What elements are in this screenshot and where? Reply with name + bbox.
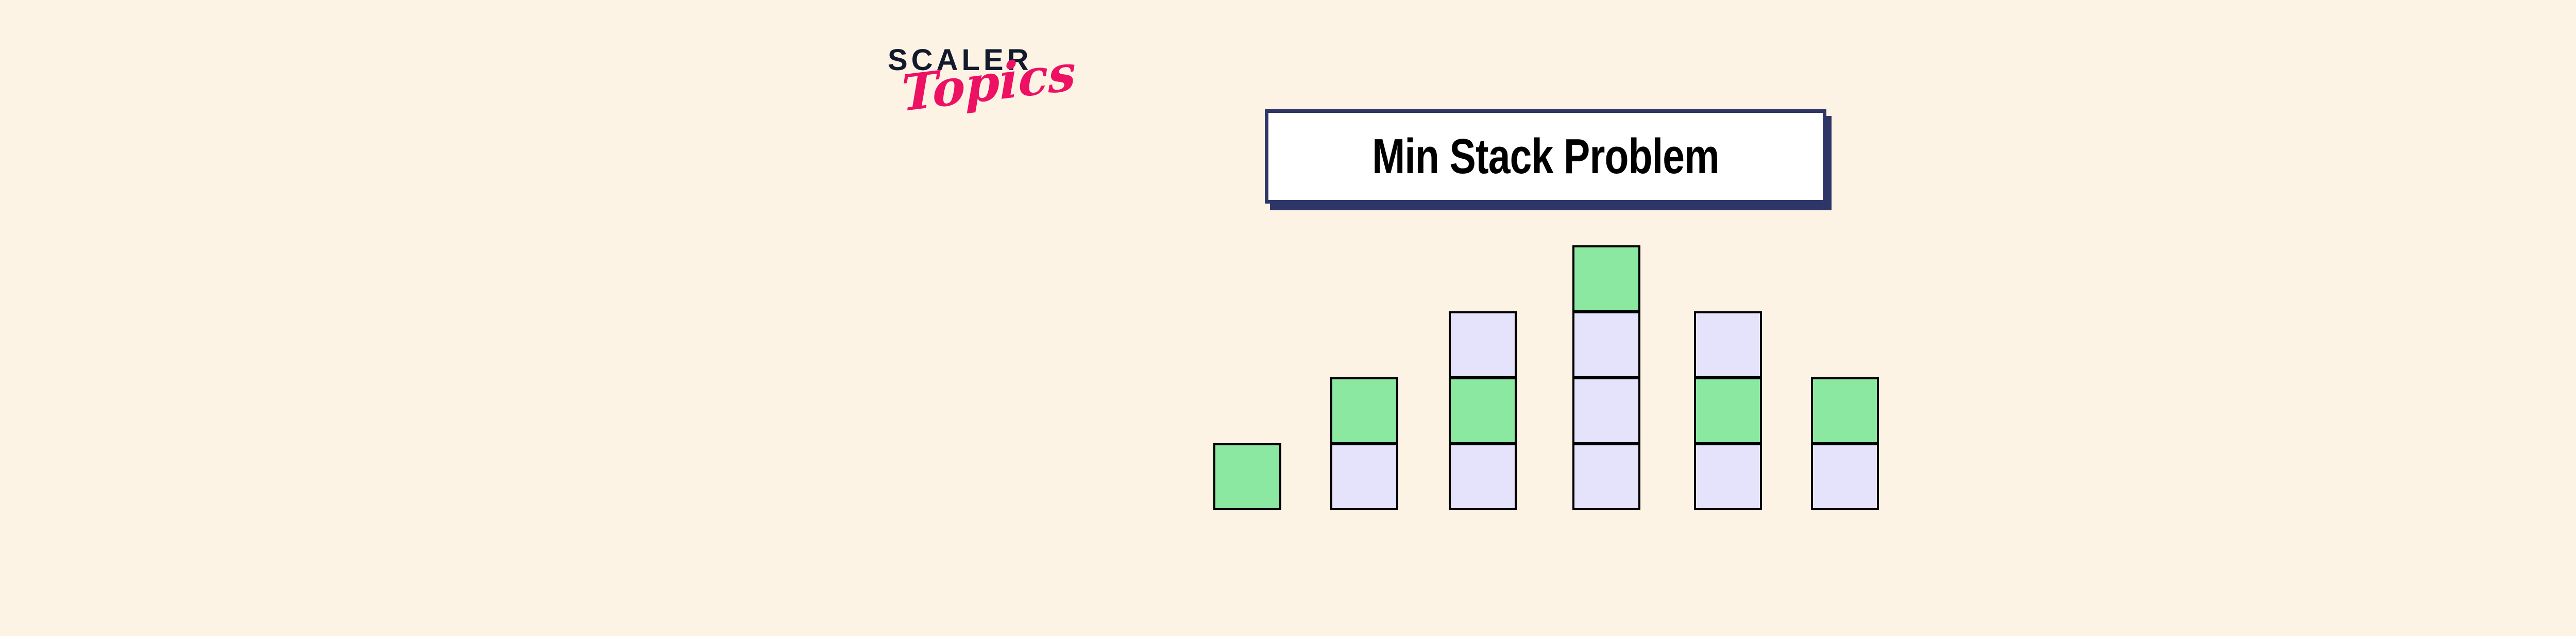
stack-block-green: [1694, 377, 1762, 444]
stack-block-green: [1572, 245, 1640, 312]
scaler-topics-logo: SCALER Topics: [888, 45, 1053, 148]
stack-column-3: [1449, 312, 1517, 510]
stack-block-purple: [1811, 443, 1879, 510]
stack-column-2: [1330, 378, 1398, 510]
page-title: Min Stack Problem: [1372, 132, 1719, 181]
stack-block-purple: [1449, 443, 1517, 510]
stack-block-purple: [1449, 311, 1517, 378]
stack-column-4: [1572, 246, 1640, 510]
stack-block-green: [1449, 377, 1517, 444]
stack-block-green: [1213, 443, 1281, 510]
stack-block-purple: [1572, 377, 1640, 444]
stack-block-purple: [1572, 443, 1640, 510]
title-card: Min Stack Problem: [1265, 109, 1826, 210]
stack-block-green: [1811, 377, 1879, 444]
stack-block-green: [1330, 377, 1398, 444]
stack-block-purple: [1694, 443, 1762, 510]
stack-column-5: [1694, 312, 1762, 510]
stack-column-1: [1213, 444, 1281, 510]
stack-block-purple: [1694, 311, 1762, 378]
title-card-box: Min Stack Problem: [1265, 109, 1826, 204]
stack-block-purple: [1572, 311, 1640, 378]
stack-column-6: [1811, 378, 1879, 510]
slide-canvas: SCALER Topics Min Stack Problem: [0, 0, 2576, 636]
stack-block-purple: [1330, 443, 1398, 510]
stack-diagram: [1213, 232, 1883, 510]
